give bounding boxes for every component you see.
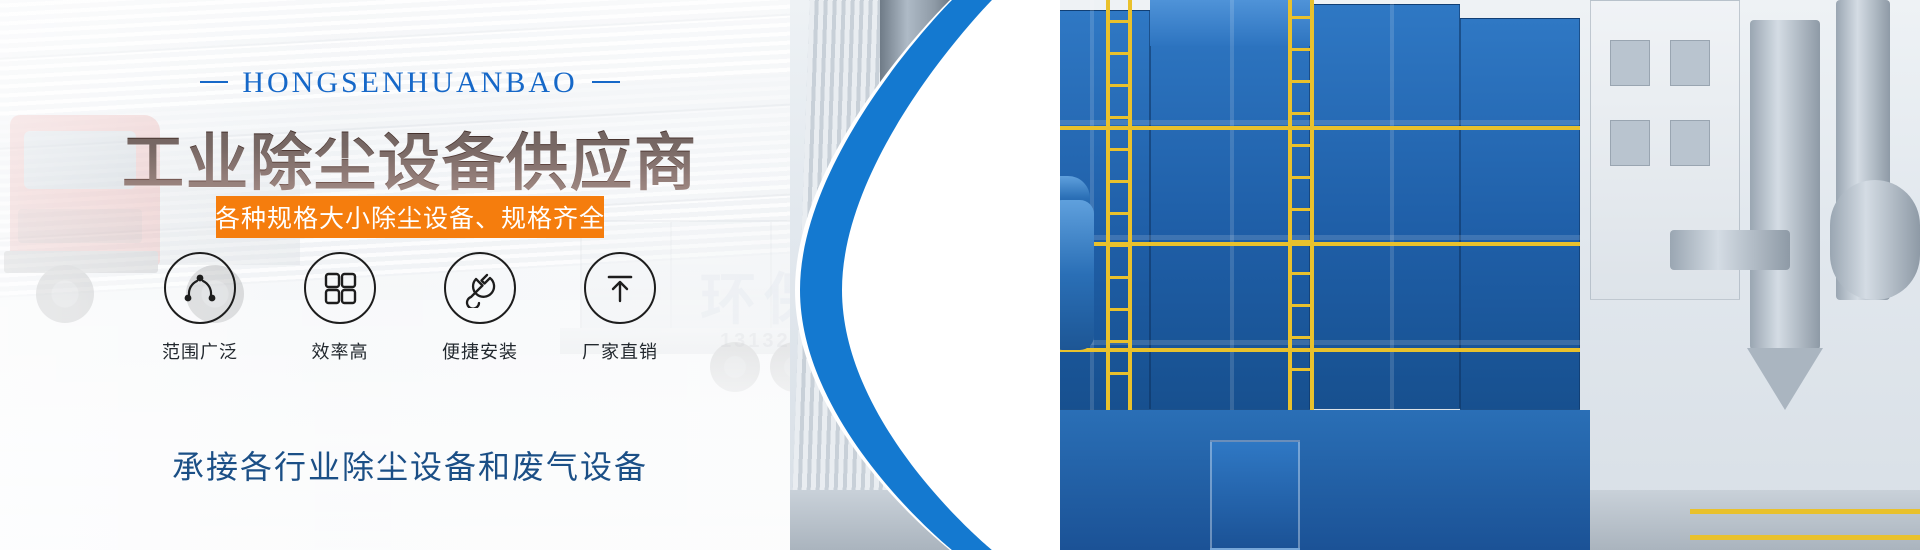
feature-label: 便捷安装 [442, 338, 518, 364]
handrail [1690, 535, 1920, 540]
feature-icon-circle [304, 252, 376, 324]
highlight-bar-text: 各种规格大小除尘设备、规格齐全 [215, 199, 605, 235]
feature-icon-circle [444, 252, 516, 324]
tagline: 承接各行业除尘设备和废气设备 [0, 442, 820, 488]
building-window [1670, 40, 1710, 86]
handrail [1000, 348, 1580, 352]
handrail [1690, 509, 1920, 514]
brand-name: HONGSENHUANBAO [242, 66, 577, 99]
highlight-bar: 各种规格大小除尘设备、规格齐全 [216, 196, 604, 238]
feature-label: 范围广泛 [162, 338, 238, 364]
arrow-up-bar-icon [601, 269, 639, 307]
building-window [1610, 120, 1650, 166]
banner-content: HONGSENHUANBAO 工业除尘设备供应商 各种规格大小除尘设备、规格齐全… [0, 0, 820, 550]
grey-tank [1750, 20, 1820, 350]
feature-label: 效率高 [312, 338, 369, 364]
duct-horizontal [1670, 230, 1790, 270]
promo-banner: 环保 13132 7001 [0, 0, 1920, 550]
feature-item-efficiency[interactable]: 效率高 [286, 252, 394, 364]
access-door [1210, 440, 1300, 550]
tank-hopper [1747, 348, 1823, 410]
building-window [1670, 120, 1710, 166]
grid-squares-icon [321, 269, 359, 307]
headline: 工业除尘设备供应商 [0, 112, 820, 202]
feature-icon-circle [584, 252, 656, 324]
feature-item-coverage[interactable]: 范围广泛 [146, 252, 254, 364]
cyclone-body [1830, 180, 1920, 300]
feature-list: 范围广泛 效率高 [0, 252, 820, 364]
feature-label: 厂家直销 [582, 338, 658, 364]
feature-item-direct-sales[interactable]: 厂家直销 [566, 252, 674, 364]
brand-eyebrow: HONGSENHUANBAO [0, 66, 820, 100]
feature-icon-circle [164, 252, 236, 324]
dash-right-icon [592, 81, 620, 83]
wrench-icon [460, 268, 500, 308]
share-network-icon [180, 268, 220, 308]
feature-item-installation[interactable]: 便捷安装 [426, 252, 534, 364]
building-window [1610, 40, 1650, 86]
handrail [1000, 126, 1580, 130]
dash-left-icon [200, 81, 228, 83]
